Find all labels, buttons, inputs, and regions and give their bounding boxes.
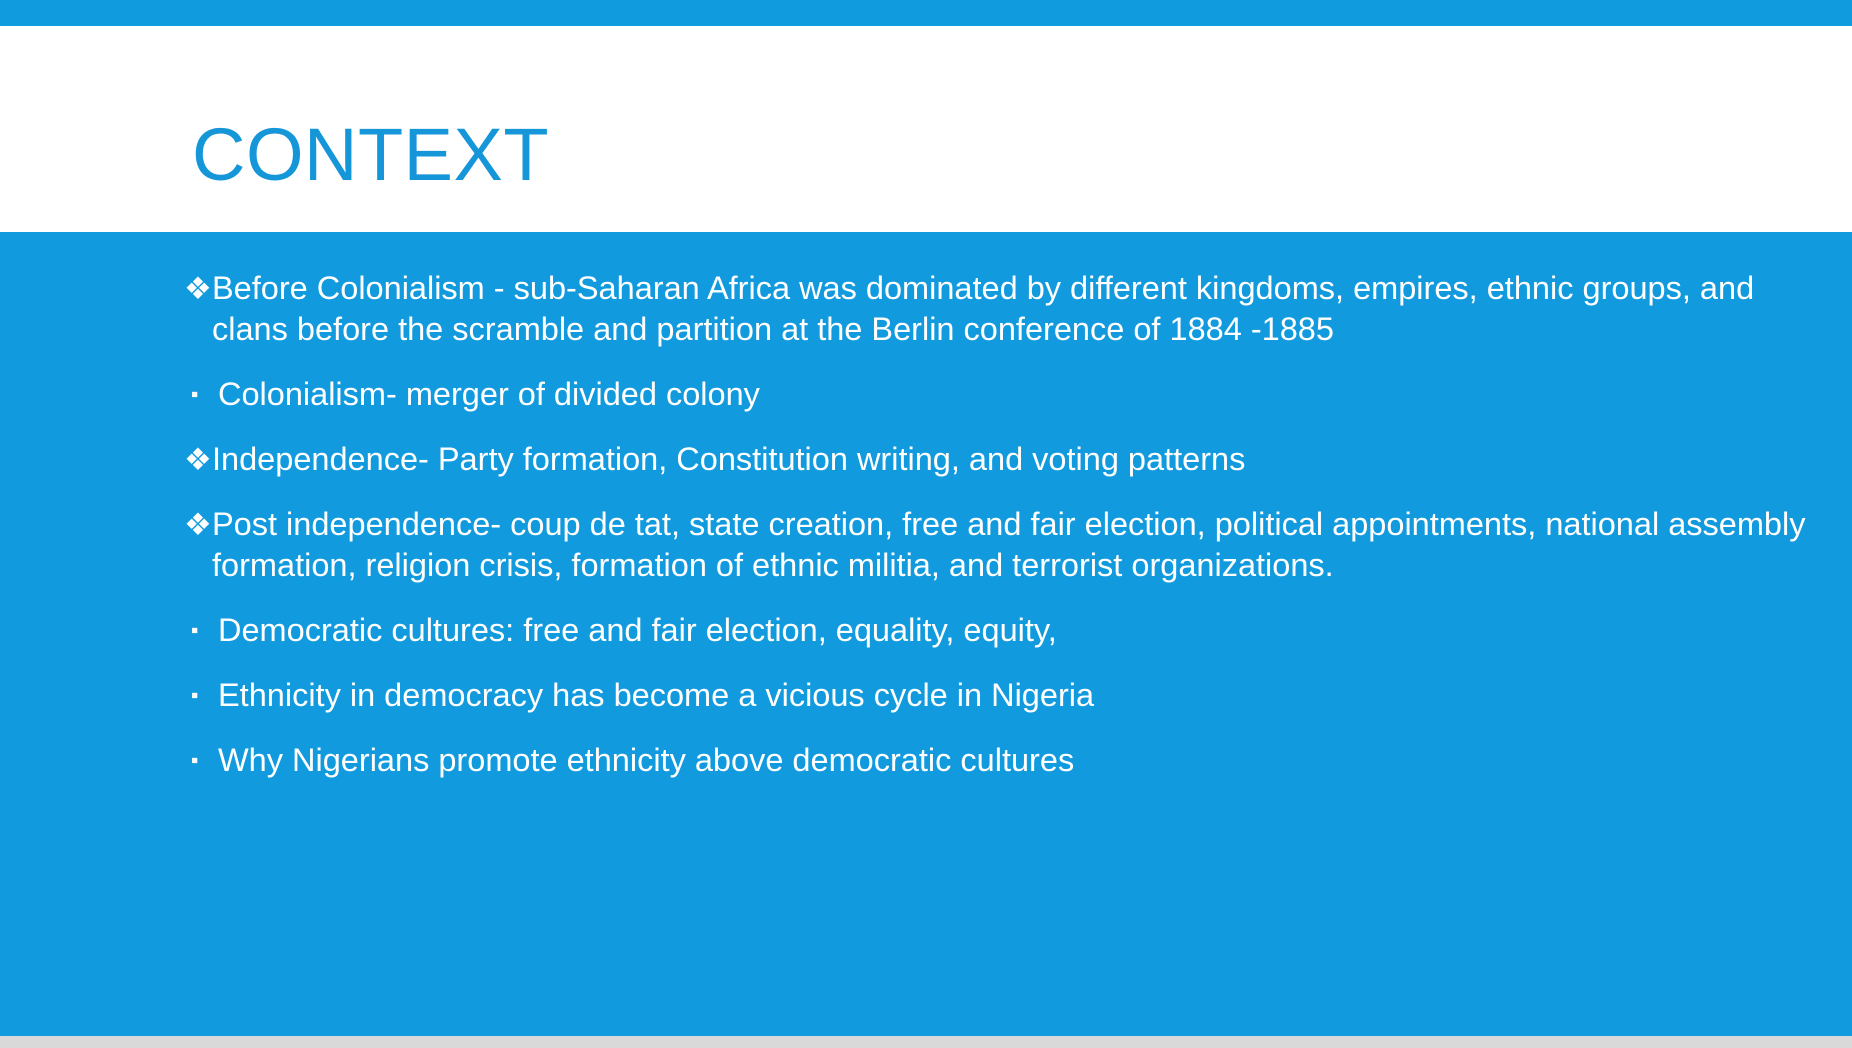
list-item-text: Independence- Party formation, Constitut…	[212, 439, 1826, 480]
square-bullet-icon: ▪	[186, 675, 214, 716]
bottom-edge-strip	[0, 1036, 1852, 1048]
list-item: ❖ Before Colonialism - sub-Saharan Afric…	[186, 268, 1826, 350]
list-item: ▪ Why Nigerians promote ethnicity above …	[186, 740, 1826, 781]
list-item: ❖ Independence- Party formation, Constit…	[186, 439, 1826, 480]
list-item-text: Colonialism- merger of divided colony	[214, 374, 1826, 415]
list-item-text: Why Nigerians promote ethnicity above de…	[214, 740, 1826, 781]
list-item: ▪ Ethnicity in democracy has become a vi…	[186, 675, 1826, 716]
list-item: ▪ Colonialism- merger of divided colony	[186, 374, 1826, 415]
slide-body-panel: ❖ Before Colonialism - sub-Saharan Afric…	[0, 232, 1852, 1036]
square-bullet-icon: ▪	[186, 610, 214, 651]
page-title: CONTEXT	[192, 118, 549, 192]
list-item: ▪ Democratic cultures: free and fair ele…	[186, 610, 1826, 651]
top-accent-bar	[0, 0, 1852, 26]
list-item-text: Before Colonialism - sub-Saharan Africa …	[212, 268, 1826, 350]
square-bullet-icon: ▪	[186, 740, 214, 781]
square-bullet-icon: ▪	[186, 374, 214, 415]
diamond-bullet-icon: ❖	[184, 439, 212, 480]
diamond-bullet-icon: ❖	[184, 504, 212, 545]
list-item: ❖ Post independence- coup de tat, state …	[186, 504, 1826, 586]
list-item-text: Ethnicity in democracy has become a vici…	[214, 675, 1826, 716]
list-item-text: Democratic cultures: free and fair elect…	[214, 610, 1826, 651]
title-band: CONTEXT	[0, 30, 1852, 230]
list-item-text: Post independence- coup de tat, state cr…	[212, 504, 1826, 586]
bullet-list: ❖ Before Colonialism - sub-Saharan Afric…	[186, 268, 1826, 781]
presentation-slide: CONTEXT ❖ Before Colonialism - sub-Sahar…	[0, 0, 1852, 1048]
diamond-bullet-icon: ❖	[184, 268, 212, 309]
